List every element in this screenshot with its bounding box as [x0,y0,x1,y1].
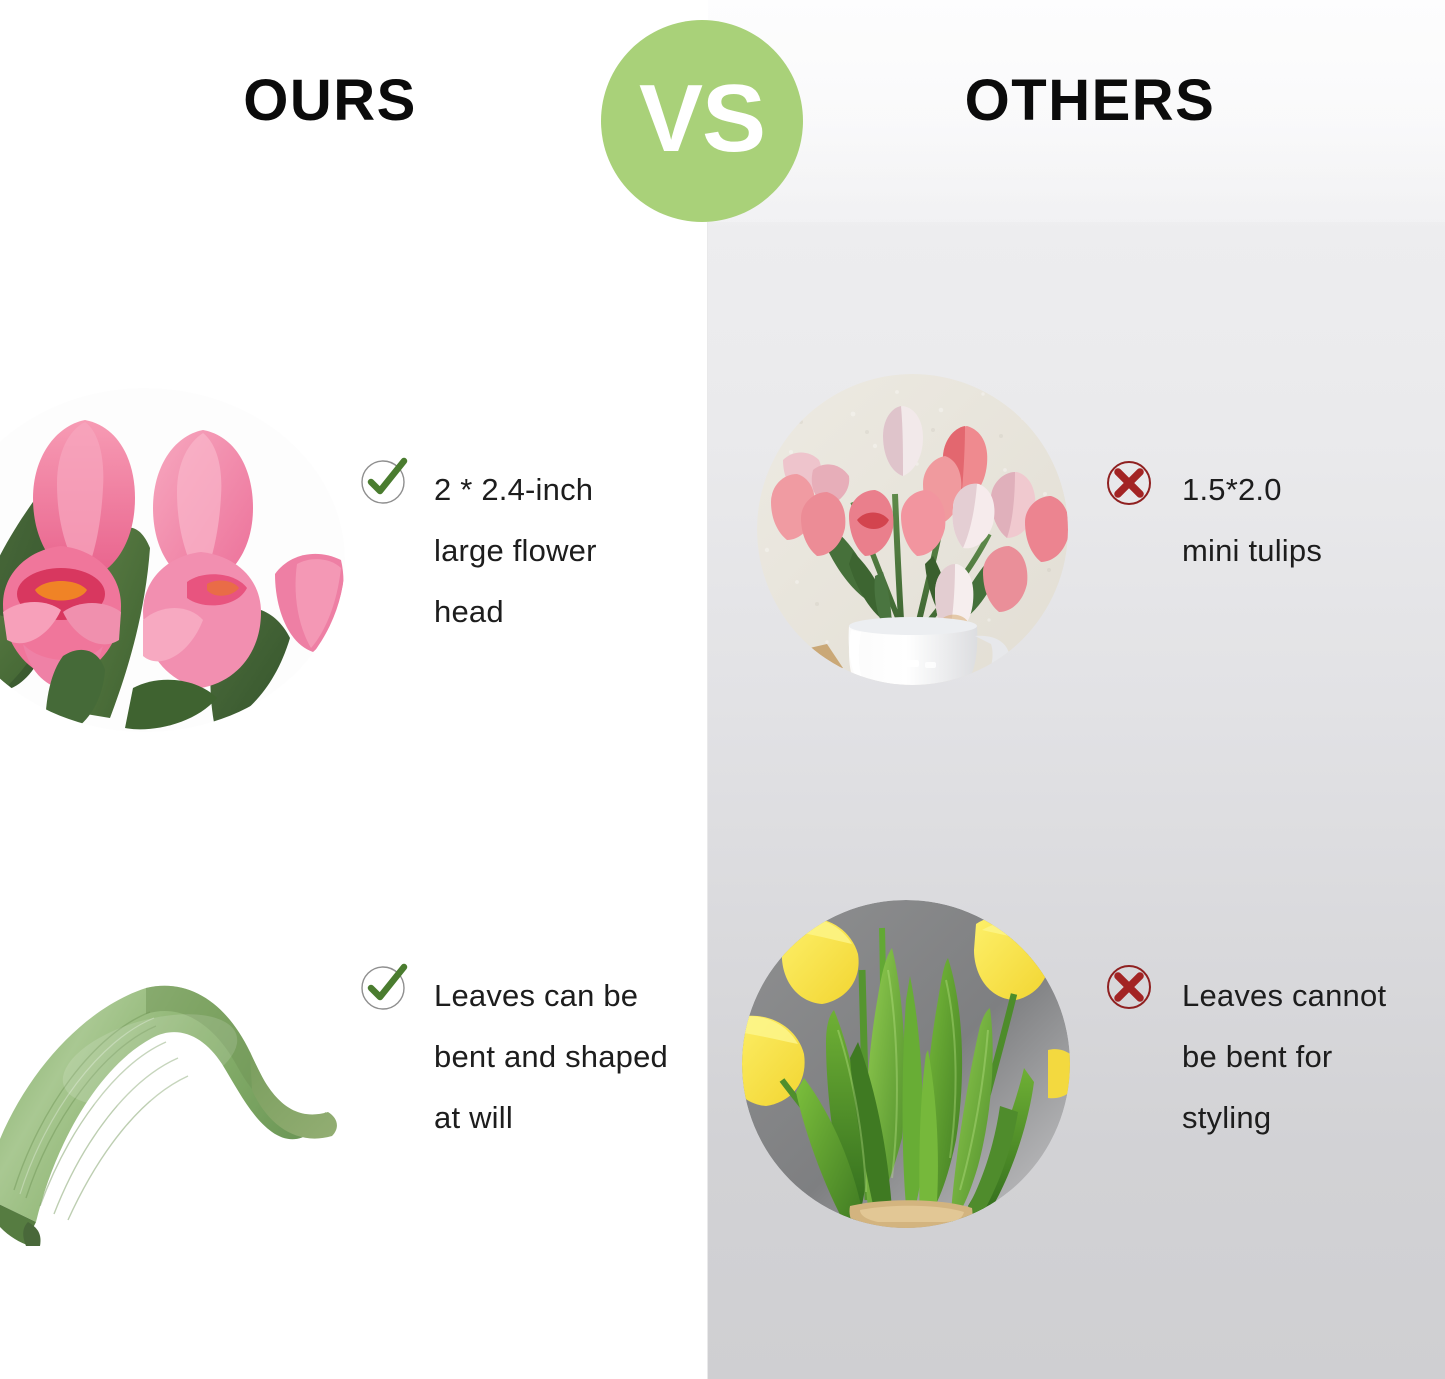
bent-leaf-art [0,940,360,1280]
others-feature-2-line-2: be bent for [1182,1026,1386,1087]
others-feature-1-line-1: 1.5*2.0 [1182,459,1322,520]
ours-heading: OURS [0,72,660,130]
mini-tulips-in-pitcher-art [757,374,1068,685]
others-photo-2 [742,900,1070,1228]
comparison-row-2: Leaves can be bent and shaped at will [0,890,1445,1280]
ours-feature-text-2: Leaves can be bent and shaped at will [434,965,668,1148]
others-feature-text-1: 1.5*2.0 mini tulips [1182,459,1322,581]
ours-feature-1-line-3: head [434,581,597,642]
others-photo-1 [757,374,1068,685]
header: OURS OTHERS VS [0,0,1445,222]
others-feature-2-line-1: Leaves cannot [1182,965,1386,1026]
yellow-tulips-stiff-leaves-art [742,900,1070,1228]
ours-photo-1 [0,388,345,733]
ours-photo-2 [0,940,360,1280]
cross-circle-icon-1 [1104,458,1154,508]
vs-badge-label: VS [639,71,765,167]
ours-feature-1-line-1: 2 * 2.4-inch [434,459,597,520]
vs-badge: VS [601,20,803,222]
ours-feature-text-1: 2 * 2.4-inch large flower head [434,459,597,642]
ours-feature-2-line-2: bent and shaped [434,1026,668,1087]
others-feature-2-line-3: styling [1182,1087,1386,1148]
pink-tulips-closeup-art [0,388,345,733]
ours-feature-2-line-3: at will [434,1087,668,1148]
others-feature-1-line-2: mini tulips [1182,520,1322,581]
check-circle-icon-2 [358,962,408,1012]
others-feature-text-2: Leaves cannot be bent for styling [1182,965,1386,1148]
cross-circle-icon-2 [1104,962,1154,1012]
ours-feature-1-line-2: large flower [434,520,597,581]
comparison-infographic: OURS OTHERS VS [0,0,1445,1379]
comparison-row-1: 2 * 2.4-inch large flower head [0,366,1445,736]
check-circle-icon-1 [358,456,408,506]
ours-feature-2-line-1: Leaves can be [434,965,668,1026]
others-heading: OTHERS [760,72,1420,130]
